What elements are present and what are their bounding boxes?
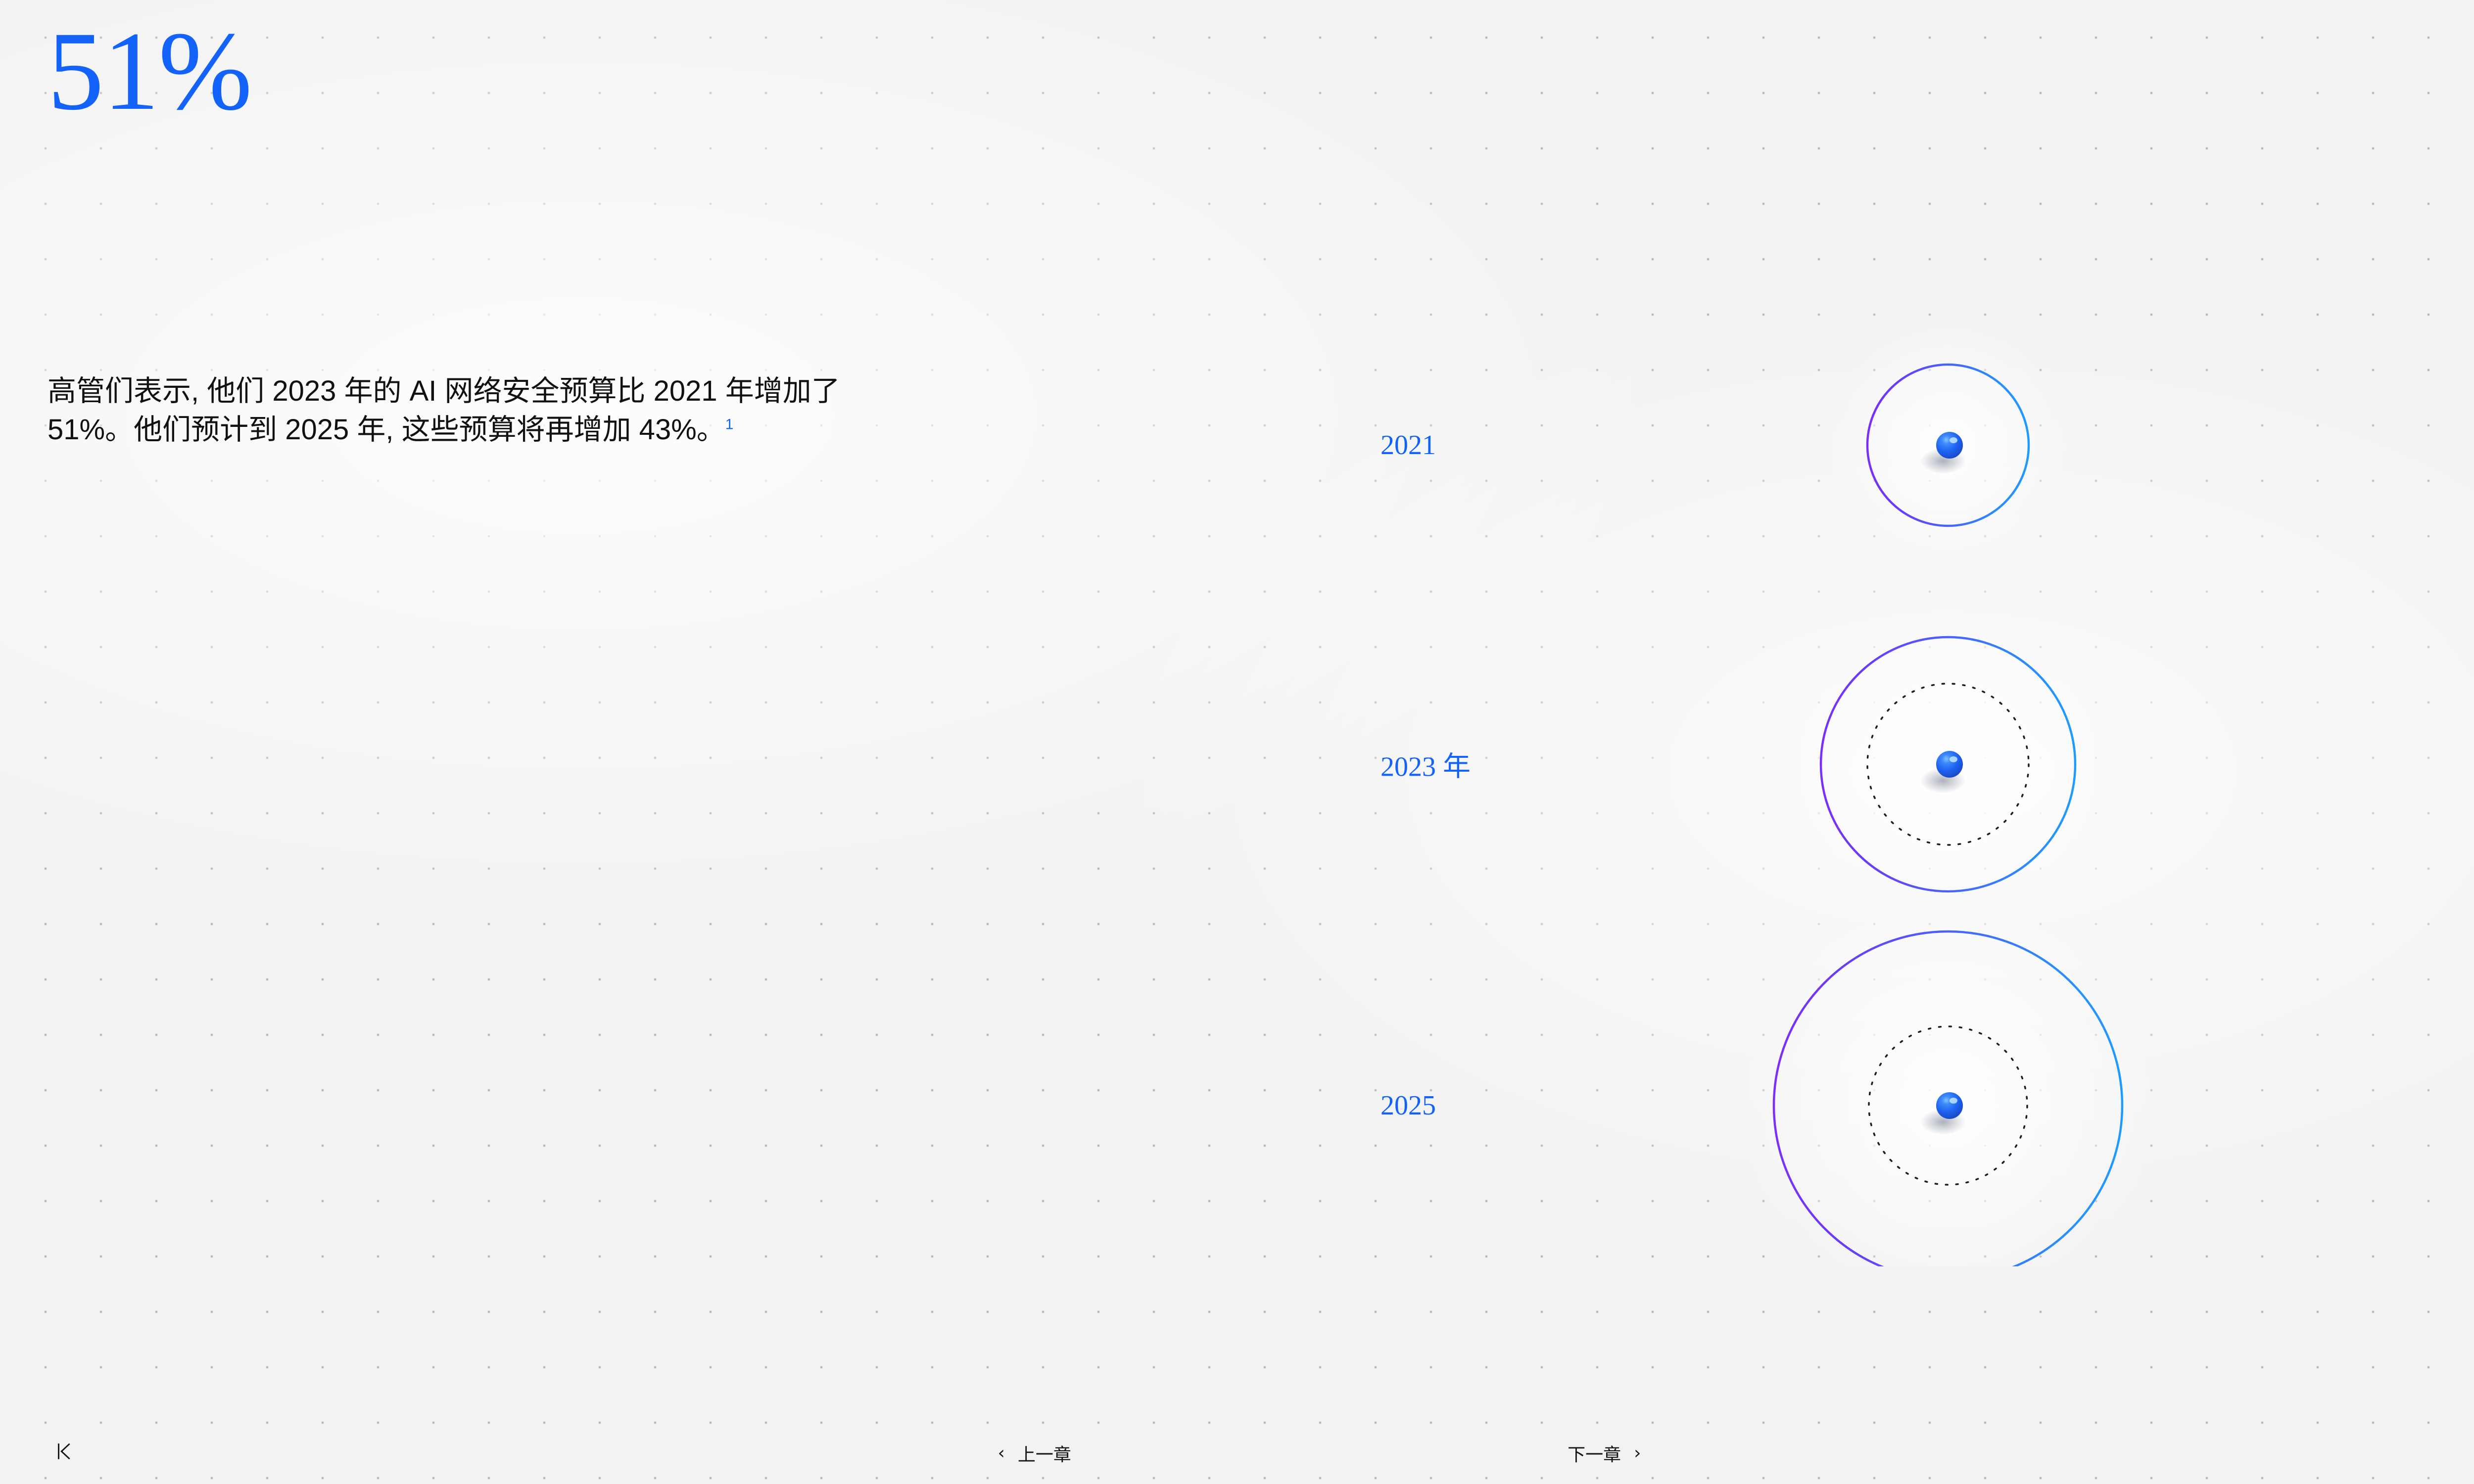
bubble-group-2021 [1504,322,2072,569]
body-paragraph: 高管们表示, 他们 2023 年的 AI 网络安全预算比 2021 年增加了 5… [48,372,849,449]
next-chapter-label: 下一章 [1568,1440,1621,1466]
page-footer: ‹ 上一章 下一章 › 8 [0,1410,2474,1484]
bubble-group-2025 [1504,893,2161,1266]
skip-to-start-icon [53,1440,76,1465]
body-paragraph-text: 高管们表示, 他们 2023 年的 AI 网络安全预算比 2021 年增加了 5… [48,375,840,446]
bubble-group-2023 [1504,601,2111,927]
next-chapter-button[interactable]: 下一章 › [1568,1440,1641,1466]
sphere-2021 [1936,432,1963,459]
sphere-highlight-2025 [1950,1098,1957,1104]
statistic-headline: 51% [48,15,251,128]
footnote-marker[interactable]: 1 [725,416,734,432]
chevron-right-icon: › [1634,1444,1641,1462]
bubble-label-2025: 2025 [1380,1090,1436,1121]
chapter-navigation: ‹ 上一章 下一章 › [998,1440,1641,1466]
sphere-2025 [1936,1092,1963,1119]
bubble-label-2023: 2023 年 [1380,744,1471,785]
bubble-label-2021: 2021 [1380,429,1436,461]
bubble-glow-2025 [1735,893,2161,1266]
sphere-2023 [1936,751,1963,778]
skip-to-start-button[interactable] [51,1439,77,1465]
chevron-left-icon: ‹ [998,1444,1005,1462]
sphere-highlight-2021 [1950,437,1957,443]
prev-chapter-label: 上一章 [1018,1440,1071,1466]
left-content-column: 51% 高管们表示, 他们 2023 年的 AI 网络安全预算比 2021 年增… [48,0,889,1484]
prev-chapter-button[interactable]: ‹ 上一章 [998,1440,1071,1466]
sphere-highlight-2023 [1950,756,1957,762]
